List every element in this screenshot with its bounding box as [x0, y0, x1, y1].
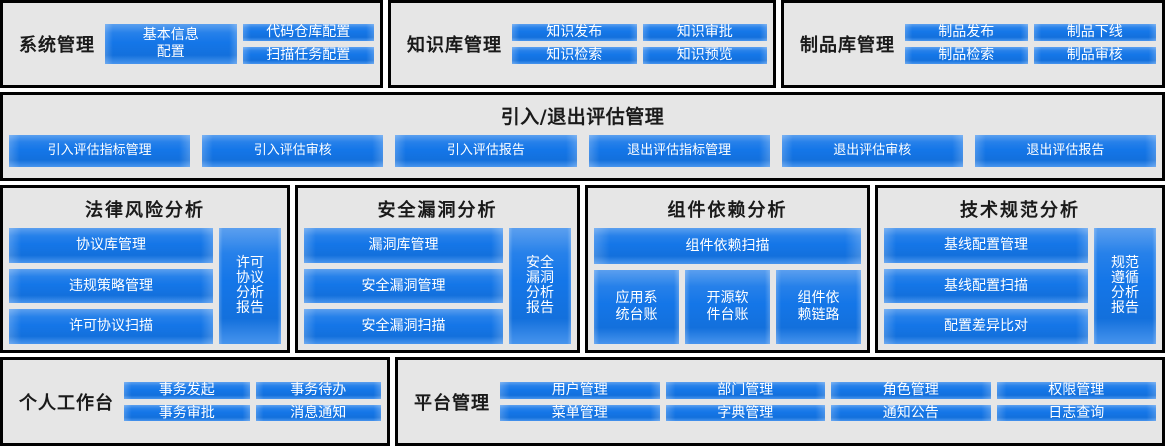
button-task-todo[interactable]: 事务待办 — [256, 382, 382, 399]
button-security-vulnerability-analysis-report[interactable]: 安全 漏洞 分析 报告 — [509, 228, 571, 344]
button-grid-personal-workbench: 事务发起 事务待办 事务审批 消息通知 — [124, 382, 381, 421]
button-config-difference-comparison[interactable]: 配置差异比对 — [884, 309, 1088, 344]
button-grid-artifact-repository: 制品发布 制品下线 制品检索 制品审核 — [905, 24, 1156, 63]
button-knowledge-preview[interactable]: 知识预览 — [643, 47, 768, 64]
button-open-source-software-ledger[interactable]: 开源软 件台账 — [685, 270, 770, 344]
button-baseline-config-scan[interactable]: 基线配置扫描 — [884, 269, 1088, 304]
platform-architecture-diagram: 系统管理 基本信息 配置 代码仓库配置 扫描任务配置 知识库管理 知识发布 知识… — [0, 0, 1165, 447]
row-system-knowledge-artifact: 系统管理 基本信息 配置 代码仓库配置 扫描任务配置 知识库管理 知识发布 知识… — [0, 0, 1165, 88]
button-stack-technical-specification: 基线配置管理 基线配置扫描 配置差异比对 — [884, 228, 1088, 344]
button-knowledge-approval[interactable]: 知识审批 — [643, 24, 768, 41]
row-evaluation-management: 引入/退出评估管理 引入评估指标管理 引入评估审核 引入评估报告 退出评估指标管… — [0, 92, 1165, 181]
button-security-vulnerability-management[interactable]: 安全漏洞管理 — [304, 269, 503, 304]
button-license-agreement-analysis-report[interactable]: 许可 协议 分析 报告 — [219, 228, 281, 344]
button-knowledge-publish[interactable]: 知识发布 — [512, 24, 637, 41]
button-exit-eval-report[interactable]: 退出评估报告 — [975, 135, 1156, 167]
button-baseline-config-management[interactable]: 基线配置管理 — [884, 228, 1088, 263]
button-task-approval[interactable]: 事务审批 — [124, 405, 250, 422]
button-license-agreement-scan[interactable]: 许可协议扫描 — [9, 309, 213, 344]
button-intro-eval-indicator-management[interactable]: 引入评估指标管理 — [9, 135, 190, 167]
button-security-vulnerability-scan[interactable]: 安全漏洞扫描 — [304, 309, 503, 344]
button-intro-eval-report[interactable]: 引入评估报告 — [395, 135, 576, 167]
button-exit-eval-review[interactable]: 退出评估审核 — [782, 135, 963, 167]
panel-security-vulnerability-analysis: 安全漏洞分析 漏洞库管理 安全漏洞管理 安全漏洞扫描 安全 漏洞 分析 报告 — [295, 185, 580, 353]
panel-title-personal-workbench: 个人工作台 — [9, 389, 124, 415]
button-agreement-library-management[interactable]: 协议库管理 — [9, 228, 213, 263]
button-stack-legal-risk: 协议库管理 违规策略管理 许可协议扫描 — [9, 228, 213, 344]
button-artifact-search[interactable]: 制品检索 — [905, 47, 1028, 64]
button-notification-announcement[interactable]: 通知公告 — [831, 405, 991, 422]
button-grid-system-management: 基本信息 配置 代码仓库配置 扫描任务配置 — [105, 24, 374, 63]
panel-title-legal-risk-analysis: 法律风险分析 — [9, 192, 281, 228]
panel-body-security-vulnerability: 漏洞库管理 安全漏洞管理 安全漏洞扫描 安全 漏洞 分析 报告 — [304, 228, 571, 344]
button-violation-policy-management[interactable]: 违规策略管理 — [9, 269, 213, 304]
button-task-initiate[interactable]: 事务发起 — [124, 382, 250, 399]
button-component-dependency-scan[interactable]: 组件依赖扫描 — [594, 228, 861, 264]
button-vulnerability-library-management[interactable]: 漏洞库管理 — [304, 228, 503, 263]
panel-title-artifact-repository-management: 制品库管理 — [790, 31, 905, 57]
button-component-dependency-chain[interactable]: 组件依 赖链路 — [776, 270, 861, 344]
button-menu-management[interactable]: 菜单管理 — [500, 405, 660, 422]
button-artifact-offline[interactable]: 制品下线 — [1034, 24, 1157, 41]
button-stack-security-vulnerability: 漏洞库管理 安全漏洞管理 安全漏洞扫描 — [304, 228, 503, 344]
panel-title-component-dependency-analysis: 组件依赖分析 — [594, 192, 861, 228]
button-message-notification[interactable]: 消息通知 — [256, 405, 382, 422]
panel-system-management: 系统管理 基本信息 配置 代码仓库配置 扫描任务配置 — [0, 0, 383, 88]
row-analysis-modules: 法律风险分析 协议库管理 违规策略管理 许可协议扫描 许可 协议 分析 报告 安… — [0, 185, 1165, 353]
row-workbench-platform: 个人工作台 事务发起 事务待办 事务审批 消息通知 平台管理 用户管理 部门管理… — [0, 357, 1165, 446]
button-permission-management[interactable]: 权限管理 — [997, 382, 1157, 399]
button-dictionary-management[interactable]: 字典管理 — [666, 405, 826, 422]
button-department-management[interactable]: 部门管理 — [666, 382, 826, 399]
panel-personal-workbench: 个人工作台 事务发起 事务待办 事务审批 消息通知 — [0, 357, 390, 446]
button-grid-knowledge-base: 知识发布 知识审批 知识检索 知识预览 — [512, 24, 767, 63]
button-basic-info-config[interactable]: 基本信息 配置 — [105, 24, 237, 63]
button-role-management[interactable]: 角色管理 — [831, 382, 991, 399]
panel-body-technical-specification: 基线配置管理 基线配置扫描 配置差异比对 规范 遵循 分析 报告 — [884, 228, 1156, 344]
panel-title-platform-management: 平台管理 — [404, 389, 500, 415]
button-user-management[interactable]: 用户管理 — [500, 382, 660, 399]
button-artifact-publish[interactable]: 制品发布 — [905, 24, 1028, 41]
panel-title-knowledge-base-management: 知识库管理 — [397, 31, 512, 57]
button-application-system-ledger[interactable]: 应用系 统台账 — [594, 270, 679, 344]
panel-component-dependency-analysis: 组件依赖分析 组件依赖扫描 应用系 统台账 开源软 件台账 组件依 赖链路 — [585, 185, 870, 353]
report-column-security-vulnerability: 安全 漏洞 分析 报告 — [509, 228, 571, 344]
panel-body-legal-risk: 协议库管理 违规策略管理 许可协议扫描 许可 协议 分析 报告 — [9, 228, 281, 344]
button-knowledge-search[interactable]: 知识检索 — [512, 47, 637, 64]
button-row-evaluation: 引入评估指标管理 引入评估审核 引入评估报告 退出评估指标管理 退出评估审核 退… — [9, 131, 1156, 171]
panel-artifact-repository-management: 制品库管理 制品发布 制品下线 制品检索 制品审核 — [781, 0, 1165, 88]
button-grid-platform-management: 用户管理 部门管理 角色管理 权限管理 菜单管理 字典管理 通知公告 日志查询 — [500, 382, 1156, 421]
panel-technical-specification-analysis: 技术规范分析 基线配置管理 基线配置扫描 配置差异比对 规范 遵循 分析 报告 — [875, 185, 1165, 353]
button-artifact-review[interactable]: 制品审核 — [1034, 47, 1157, 64]
button-specification-compliance-analysis-report[interactable]: 规范 遵循 分析 报告 — [1094, 228, 1156, 344]
panel-title-technical-specification-analysis: 技术规范分析 — [884, 192, 1156, 228]
panel-knowledge-base-management: 知识库管理 知识发布 知识审批 知识检索 知识预览 — [388, 0, 776, 88]
report-column-legal-risk: 许可 协议 分析 报告 — [219, 228, 281, 344]
panel-legal-risk-analysis: 法律风险分析 协议库管理 违规策略管理 许可协议扫描 许可 协议 分析 报告 — [0, 185, 290, 353]
button-intro-eval-review[interactable]: 引入评估审核 — [202, 135, 383, 167]
panel-title-system-management: 系统管理 — [9, 31, 105, 57]
report-column-technical-specification: 规范 遵循 分析 报告 — [1094, 228, 1156, 344]
panel-title-intro-exit-evaluation: 引入/退出评估管理 — [9, 99, 1156, 131]
button-row-component-ledgers: 应用系 统台账 开源软 件台账 组件依 赖链路 — [594, 270, 861, 344]
button-log-query[interactable]: 日志查询 — [997, 405, 1157, 422]
panel-body-component-dependency: 组件依赖扫描 应用系 统台账 开源软 件台账 组件依 赖链路 — [594, 228, 861, 344]
panel-platform-management: 平台管理 用户管理 部门管理 角色管理 权限管理 菜单管理 字典管理 通知公告 … — [395, 357, 1165, 446]
button-scan-task-config[interactable]: 扫描任务配置 — [243, 47, 375, 64]
button-code-repo-config[interactable]: 代码仓库配置 — [243, 24, 375, 41]
panel-intro-exit-evaluation-management: 引入/退出评估管理 引入评估指标管理 引入评估审核 引入评估报告 退出评估指标管… — [0, 92, 1165, 181]
panel-title-security-vulnerability-analysis: 安全漏洞分析 — [304, 192, 571, 228]
button-exit-eval-indicator-management[interactable]: 退出评估指标管理 — [589, 135, 770, 167]
